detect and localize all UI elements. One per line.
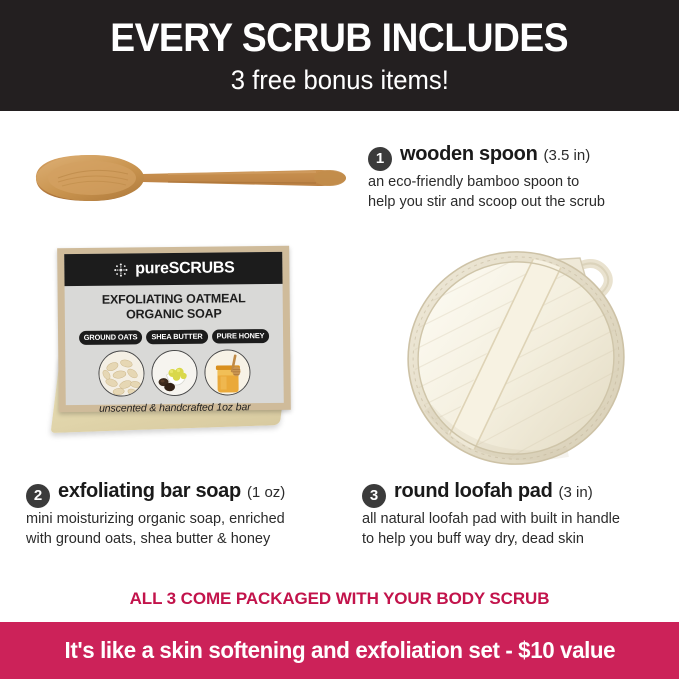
wooden-spoon-image xyxy=(8,140,356,220)
soap-product-line-2: ORGANIC SOAP xyxy=(126,307,222,322)
soap-label-wrapper: pureSCRUBS EXFOLIATING OATMEAL ORGANIC S… xyxy=(57,246,291,412)
oats-photo-icon xyxy=(98,350,144,396)
item-2-text-block: 2 exfoliating bar soap (1 oz) mini moist… xyxy=(26,480,346,549)
bamboo-spoon-icon xyxy=(18,152,348,204)
soap-brand-name: pureSCRUBS xyxy=(135,259,234,278)
item-3-number-badge: 3 xyxy=(362,484,386,508)
page-subtitle: 3 free bonus items! xyxy=(230,67,448,94)
item-2-heading: 2 exfoliating bar soap (1 oz) xyxy=(26,480,346,505)
item-1-title: wooden spoon xyxy=(400,143,538,166)
ingredient-pill-oats: GROUND OATS xyxy=(79,330,143,345)
item-2-desc-line-2: with ground oats, shea butter & honey xyxy=(26,531,270,547)
item-3-desc-line-1: all natural loofah pad with built in han… xyxy=(362,511,620,527)
item-1-size: (3.5 in) xyxy=(544,147,591,164)
item-3-desc-line-2: to help you buff way dry, dead skin xyxy=(362,531,584,547)
item-3-title: round loofah pad xyxy=(394,480,553,503)
value-banner: It's like a skin softening and exfoliati… xyxy=(0,622,679,679)
header-banner: EVERY SCRUB INCLUDES 3 free bonus items! xyxy=(0,0,679,111)
item-2-desc-line-1: mini moisturizing organic soap, enriched xyxy=(26,511,285,527)
packaging-tagline: ALL 3 COME PACKAGED WITH YOUR BODY SCRUB xyxy=(0,589,679,609)
item-1-text-block: 1 wooden spoon (3.5 in) an eco-friendly … xyxy=(368,143,674,212)
item-1-desc-line-1: an eco-friendly bamboo spoon to xyxy=(368,174,579,190)
mandala-ornament-icon xyxy=(112,261,129,278)
item-1-heading: 1 wooden spoon (3.5 in) xyxy=(368,143,674,168)
soap-product-line-1: EXFOLIATING OATMEAL xyxy=(102,291,246,307)
item-2-description: mini moisturizing organic soap, enriched… xyxy=(26,509,346,549)
loofah-pad-icon xyxy=(398,238,654,470)
shea-butter-photo-icon xyxy=(151,349,197,395)
soap-label-body: EXFOLIATING OATMEAL ORGANIC SOAP GROUND … xyxy=(65,284,284,420)
soap-ingredient-pills: GROUND OATS SHEA BUTTER PURE HONEY xyxy=(71,328,277,344)
item-3-description: all natural loofah pad with built in han… xyxy=(362,509,674,549)
ingredient-pill-shea: SHEA BUTTER xyxy=(146,329,207,344)
page-title: EVERY SCRUB INCLUDES xyxy=(111,18,569,58)
soap-brand-band: pureSCRUBS xyxy=(64,252,282,286)
item-1-description: an eco-friendly bamboo spoon to help you… xyxy=(368,172,674,212)
item-2-size: (1 oz) xyxy=(247,484,285,501)
value-banner-text: It's like a skin softening and exfoliati… xyxy=(64,637,615,664)
item-2-title: exfoliating bar soap xyxy=(58,480,241,503)
item-1-number-badge: 1 xyxy=(368,147,392,171)
item-1-desc-line-2: help you stir and scoop out the scrub xyxy=(368,194,605,210)
honey-photo-icon xyxy=(204,349,250,395)
item-3-text-block: 3 round loofah pad (3 in) all natural lo… xyxy=(362,480,674,549)
item-2-number-badge: 2 xyxy=(26,484,50,508)
loofah-pad-image xyxy=(398,238,654,470)
ingredient-pill-honey: PURE HONEY xyxy=(212,329,270,344)
soap-label-inner: pureSCRUBS EXFOLIATING OATMEAL ORGANIC S… xyxy=(64,252,284,405)
soap-product-name: EXFOLIATING OATMEAL ORGANIC SOAP xyxy=(71,291,277,324)
item-3-heading: 3 round loofah pad (3 in) xyxy=(362,480,674,505)
soap-label-footer: unscented & handcrafted 1oz bar xyxy=(72,400,278,414)
item-3-size: (3 in) xyxy=(559,484,593,501)
soap-ingredient-photos xyxy=(71,348,277,396)
bar-soap-image: pureSCRUBS EXFOLIATING OATMEAL ORGANIC S… xyxy=(48,243,298,458)
